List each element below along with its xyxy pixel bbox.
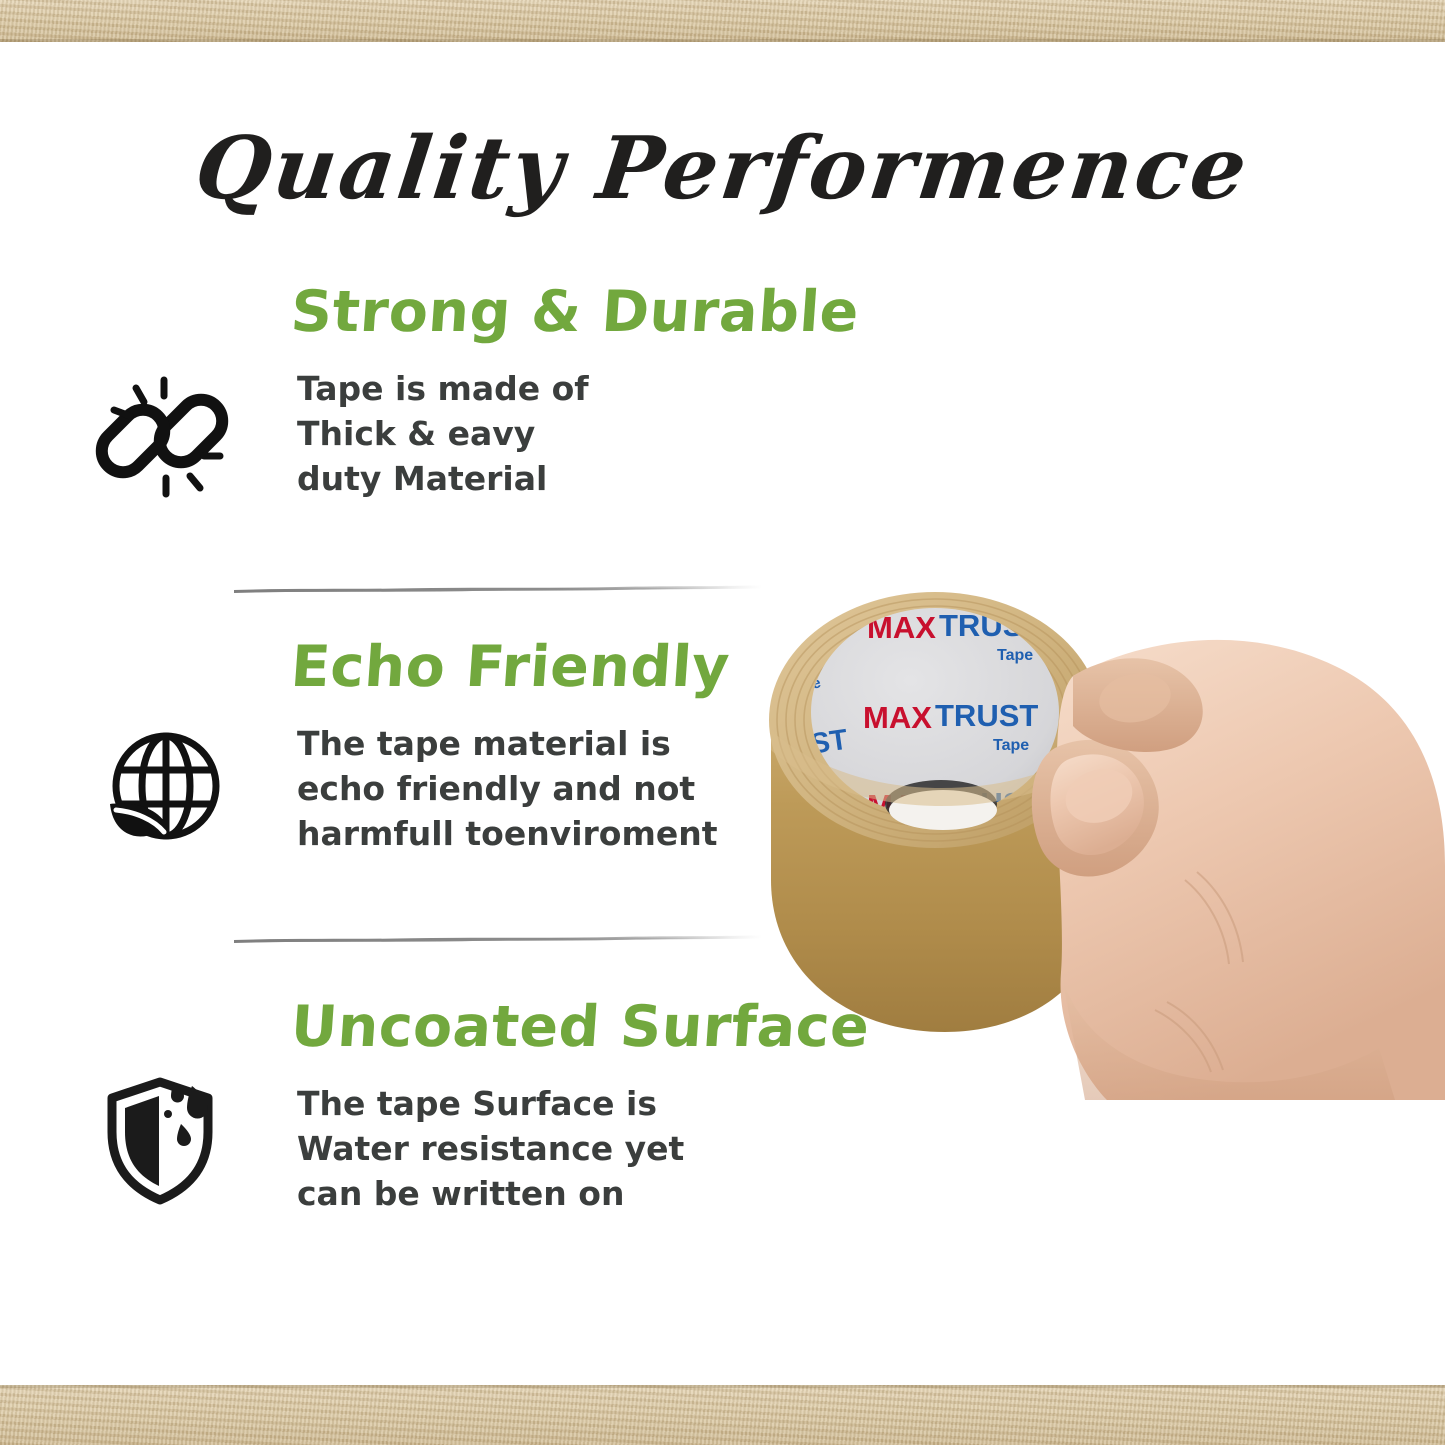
feature-body: Tape is made of Thick & eavy duty Materi… <box>297 367 792 502</box>
section-divider <box>232 932 764 946</box>
brand-tape: Tape <box>997 647 1033 664</box>
product-image-hand-holding-tape: MAX TRUST Tape MAX TRUST Tape MAX TRUST … <box>755 580 1445 1100</box>
product-feature-poster: Quality Performence Strong & Durable <box>0 0 1445 1445</box>
feature-block-strong-durable: Strong & Durable Tape is made of Thick &… <box>92 283 792 502</box>
brand-trust: TRUST <box>935 698 1038 733</box>
kraft-border-bottom <box>0 1385 1445 1445</box>
brand-tape: Tape <box>993 737 1029 754</box>
globe-leaf-icon <box>92 720 232 860</box>
feature-body: The tape material is echo friendly and n… <box>297 722 792 857</box>
shield-droplet-icon <box>92 1070 232 1210</box>
feature-heading: Echo Friendly <box>289 638 796 696</box>
feature-body: The tape Surface is Water resistance yet… <box>297 1082 792 1217</box>
page-title: Quality Performence <box>0 118 1445 219</box>
brand-max: MAX <box>863 700 932 735</box>
brand-trust: T <box>1093 615 1119 651</box>
feature-heading: Uncoated Surface <box>289 998 796 1056</box>
feature-block-uncoated-surface: Uncoated Surface The tape Surface is Wat… <box>92 998 792 1217</box>
kraft-border-top <box>0 0 1445 42</box>
chain-link-icon <box>92 366 232 506</box>
feature-heading: Strong & Durable <box>289 283 796 341</box>
feature-block-echo-friendly: Echo Friendly The tape material is echo … <box>92 638 792 857</box>
section-divider <box>232 582 764 596</box>
